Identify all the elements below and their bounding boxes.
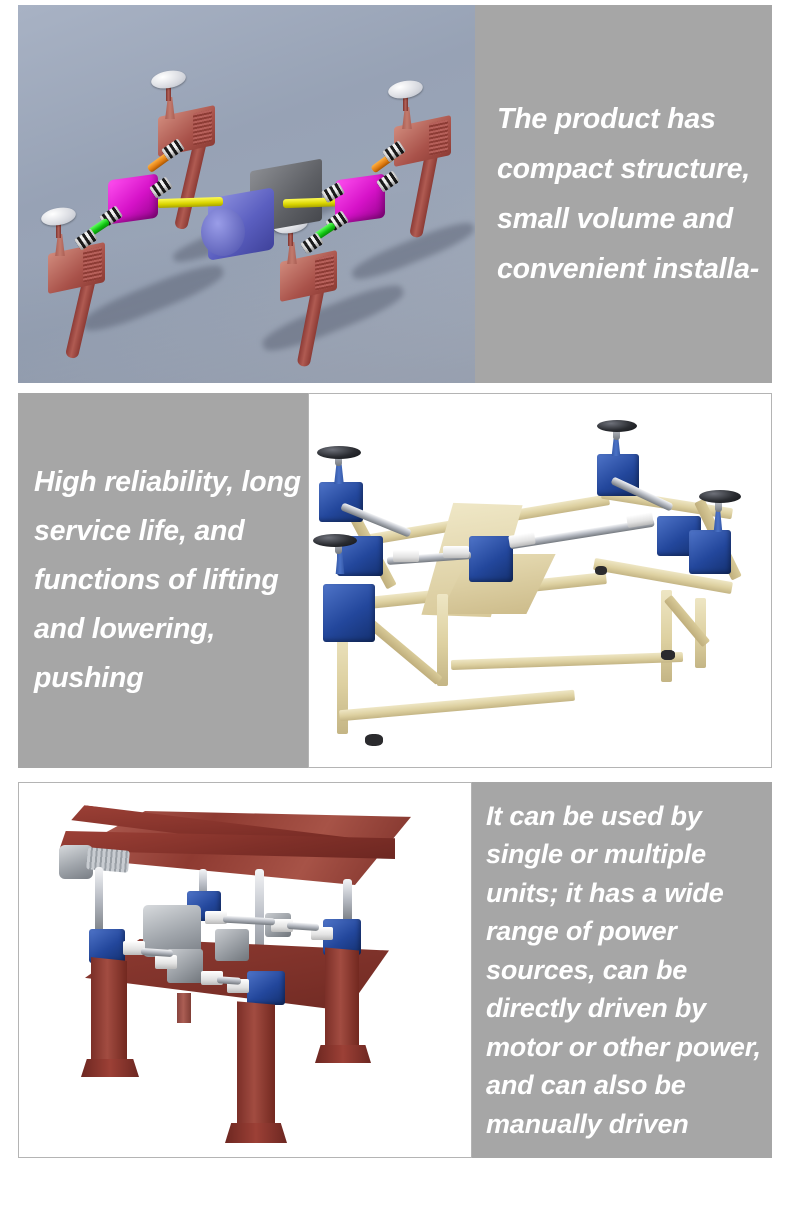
column-base-plate [81, 1059, 139, 1077]
support-column [91, 957, 127, 1069]
support-column [237, 1001, 275, 1132]
product-feature-collage: The product has compact structure, small… [0, 0, 790, 1225]
jack-cooling-fins [315, 255, 334, 291]
shaft-coupling [155, 955, 177, 969]
frame-rail [339, 690, 575, 722]
center-bevel-gearbox [469, 536, 513, 582]
shaft-coupling [393, 550, 419, 562]
jack-cooling-fins [429, 120, 448, 156]
feature-text-2: High reliability, long service life, and… [18, 458, 308, 703]
frame-leg [437, 594, 448, 686]
handwheel [313, 534, 357, 547]
photo-beige-frame-table-with-four-screw-jacks [308, 393, 772, 768]
feature-block-3: It can be used by single or multiple uni… [18, 782, 772, 1158]
cad-render-four-unit-screw-jack-system [18, 5, 475, 383]
feature-text-panel-2: High reliability, long service life, and… [18, 393, 308, 768]
support-column [177, 993, 191, 1023]
feature-block-1: The product has compact structure, small… [18, 5, 772, 383]
connecting-shaft [223, 916, 275, 926]
jack-cooling-fins [193, 110, 212, 146]
motor-end-cap [201, 208, 245, 256]
rubber-foot [661, 650, 675, 660]
screw-jack-unit [247, 971, 285, 1005]
feature-text-1: The product has compact structure, small… [475, 94, 772, 294]
lifting-screw [95, 867, 103, 937]
bevel-gearbox [215, 929, 249, 961]
frame-rail [451, 652, 683, 670]
feature-text-panel-3: It can be used by single or multiple uni… [472, 782, 772, 1158]
feature-block-2: High reliability, long service life, and… [18, 393, 772, 768]
handwheel [317, 446, 361, 459]
screw-jack-unit [323, 584, 375, 642]
jack-cooling-fins [83, 247, 102, 283]
handwheel [597, 420, 637, 432]
feature-text-3: It can be used by single or multiple uni… [472, 797, 772, 1144]
feature-text-panel-1: The product has compact structure, small… [475, 5, 772, 383]
rubber-foot [595, 566, 607, 575]
column-base-plate [225, 1123, 287, 1143]
handwheel [699, 490, 741, 503]
support-column [325, 948, 359, 1055]
rubber-foot [365, 734, 383, 746]
column-base-plate [315, 1045, 371, 1063]
motor-cooling-fins [86, 847, 130, 873]
photo-motorized-red-lifting-platform [18, 782, 472, 1158]
lifting-screw [343, 879, 352, 923]
screw-jack-unit [689, 530, 731, 574]
shaft-coupling [443, 546, 469, 558]
